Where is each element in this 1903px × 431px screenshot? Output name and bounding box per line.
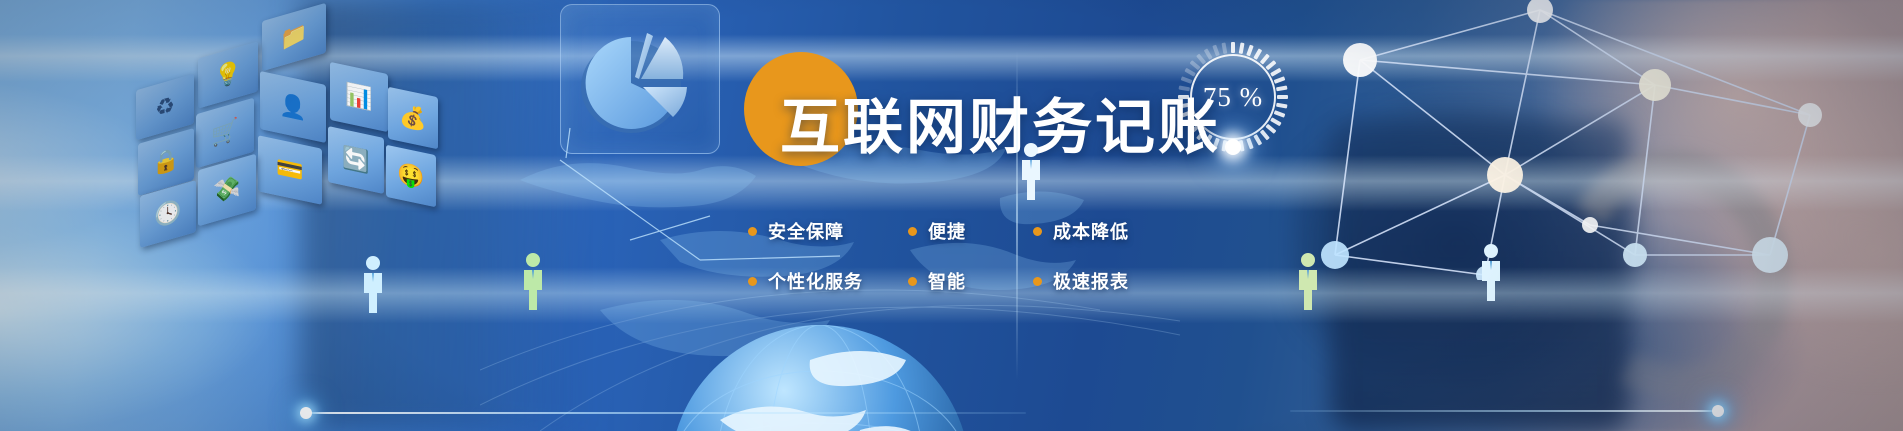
vignette-overlay [0, 0, 1903, 431]
banner-root: 📁 💡 ♻ 👤 📊 🛒 🔒 💳 🔄 💰 🤑 🕓 💸 [0, 0, 1903, 431]
